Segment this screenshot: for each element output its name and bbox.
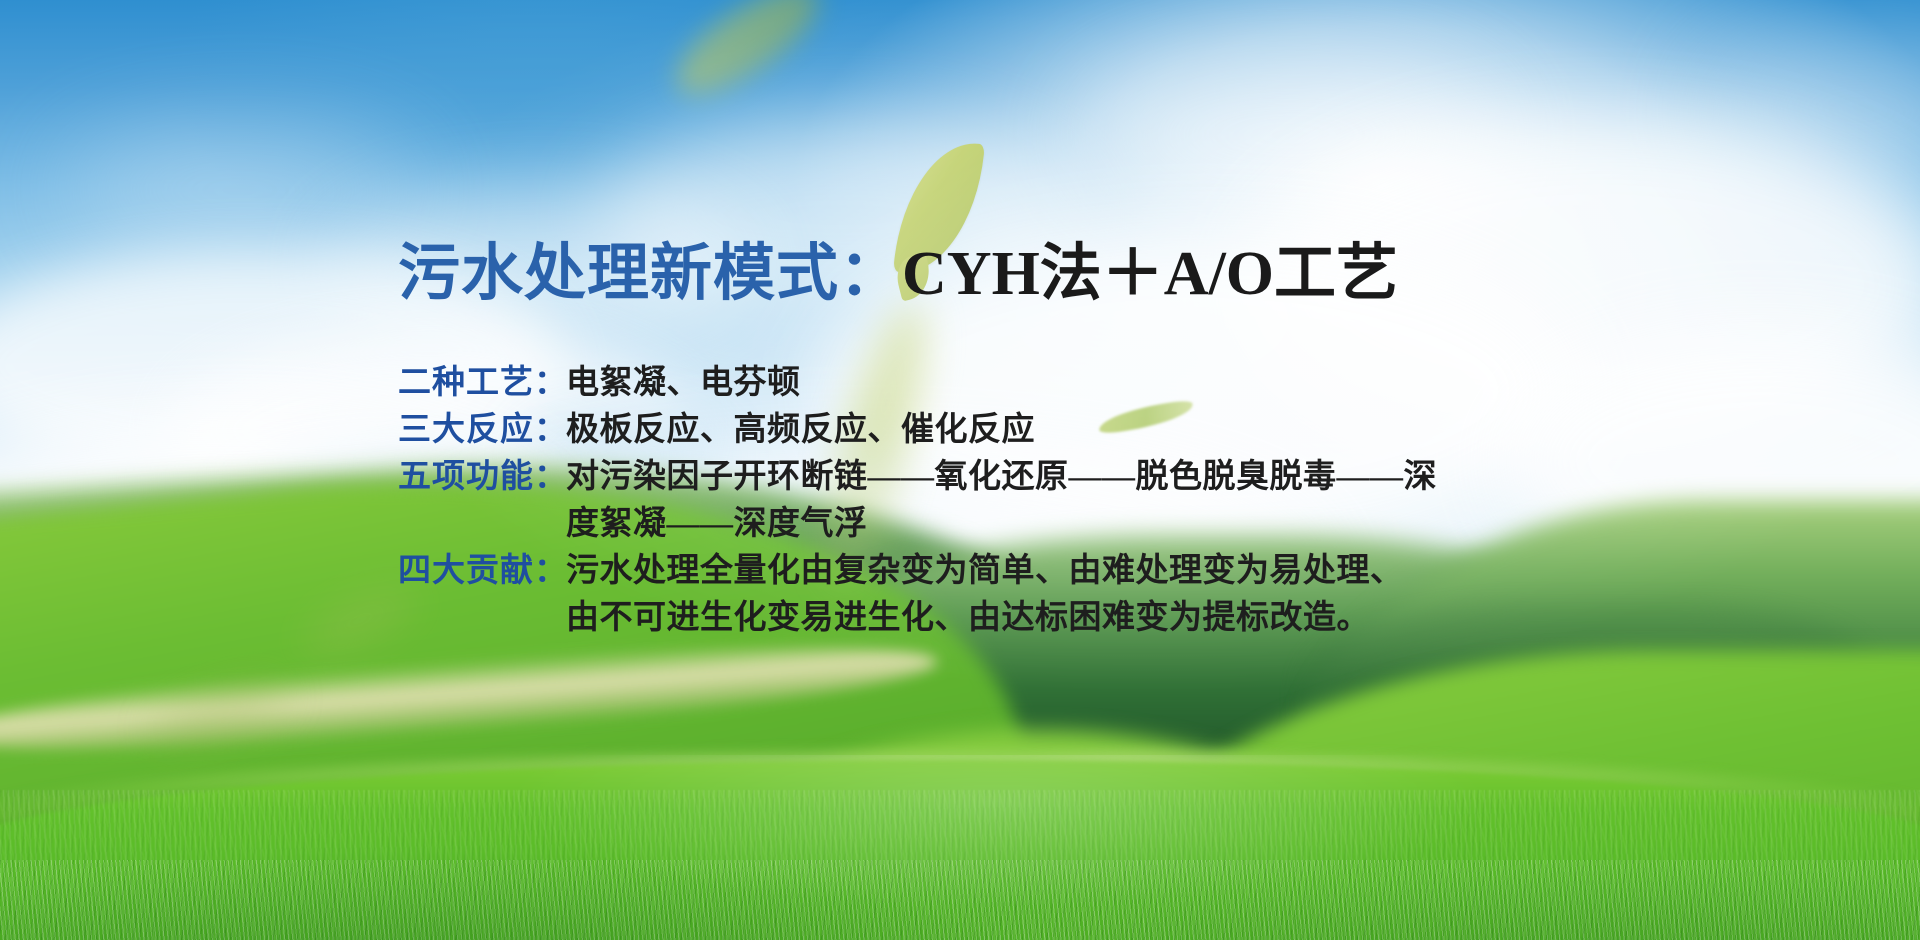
list-item: 三大反应： 极板反应、高频反应、催化反应 [398,407,1437,454]
bullet-value: 电絮凝、电芬顿 [566,360,801,407]
slide-canvas: 污水处理新模式：CYH法＋A/O工艺 二种工艺： 电絮凝、电芬顿 三大反应： 极… [0,0,1920,940]
bullet-value: 极板反应、高频反应、催化反应 [566,407,1035,454]
bullet-label: 四大贡献： [398,548,566,595]
bullet-label: 五项功能： [398,454,566,501]
bullet-value: 污水处理全量化由复杂变为简单、由难处理变为易处理、 由不可进生化变易进生化、由达… [566,548,1404,642]
list-item: 五项功能： 对污染因子开环断链——氧化还原——脱色脱臭脱毒——深 度絮凝——深度… [398,454,1437,548]
bullet-list: 二种工艺： 电絮凝、电芬顿 三大反应： 极板反应、高频反应、催化反应 五项功能：… [398,360,1437,642]
list-item: 四大贡献： 污水处理全量化由复杂变为简单、由难处理变为易处理、 由不可进生化变易… [398,548,1437,642]
page-title: 污水处理新模式：CYH法＋A/O工艺 [398,243,1398,305]
bullet-label: 三大反应： [398,407,566,454]
page-title-chinese: 污水处理新模式： [398,240,902,308]
page-title-latin: CYH法＋A/O工艺 [902,240,1398,308]
bullet-label: 二种工艺： [398,360,566,407]
slide-content: 污水处理新模式：CYH法＋A/O工艺 二种工艺： 电絮凝、电芬顿 三大反应： 极… [0,0,1920,940]
bullet-value: 对污染因子开环断链——氧化还原——脱色脱臭脱毒——深 度絮凝——深度气浮 [566,454,1437,548]
list-item: 二种工艺： 电絮凝、电芬顿 [398,360,1437,407]
